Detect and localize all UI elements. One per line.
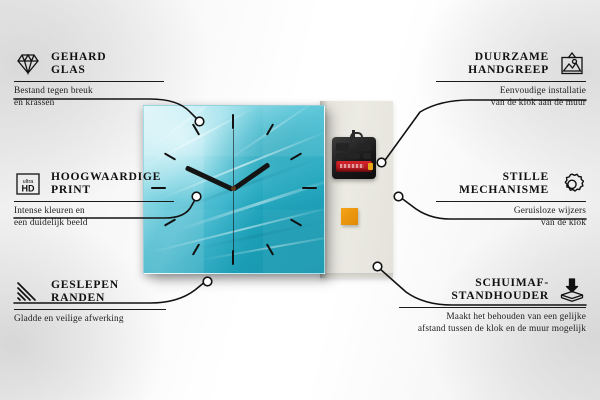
divider [399, 307, 586, 308]
diagonal-lines-icon [14, 279, 42, 305]
divider [436, 201, 586, 202]
feature-title: DUURZAME HANDGREEP [468, 51, 549, 76]
hanging-picture-icon [558, 51, 586, 77]
arrow-onto-pad-icon [558, 277, 586, 303]
infographic-canvas: GEHARD GLAS Bestand tegen breuk en krass… [0, 0, 600, 400]
clock-center-pin [231, 186, 236, 191]
feature-title: GESLEPEN RANDEN [51, 279, 119, 304]
tick-mark [302, 187, 317, 189]
tick-mark [232, 114, 234, 129]
feature-caption: Eenvoudige installatie van de klok aan d… [436, 85, 586, 110]
feature-duurzame-handgreep[interactable]: DUURZAME HANDGREEP Eenvoudige installati… [436, 51, 586, 110]
ultra-hd-icon: ultra HD [14, 171, 42, 197]
clock-mechanism [332, 137, 376, 179]
feature-schuimafstandhouder[interactable]: SCHUIMAF- STANDHOUDER Maakt het behouden… [399, 277, 586, 336]
foam-spacer-pad [341, 208, 358, 225]
diamond-icon [14, 51, 42, 77]
divider [436, 81, 586, 82]
svg-text:HD: HD [22, 184, 35, 194]
feature-stille-mechanisme[interactable]: STILLE MECHANISME Geruisloze wijzers van… [436, 171, 586, 230]
divider [14, 201, 174, 202]
feature-gehard-glas[interactable]: GEHARD GLAS Bestand tegen breuk en krass… [14, 51, 164, 110]
feature-title: STILLE MECHANISME [459, 171, 549, 196]
feature-caption: Intense kleuren en een duidelijk beeld [14, 205, 174, 230]
feature-caption: Gladde en veilige afwerking [14, 313, 166, 325]
center-vertical-line [233, 129, 234, 254]
mechanism-battery [336, 161, 372, 172]
feature-hoogwaardige-print[interactable]: ultra HD HOOGWAARDIGE PRINT Intense kleu… [14, 171, 174, 230]
divider [14, 81, 164, 82]
feature-title: HOOGWAARDIGE PRINT [51, 171, 161, 196]
feature-geslepen-randen[interactable]: GESLEPEN RANDEN Gladde en veilige afwerk… [14, 279, 166, 325]
feature-caption: Geruisloze wijzers van de klok [436, 205, 586, 230]
feature-caption: Maakt het behouden van een gelijke afsta… [399, 311, 586, 336]
feature-title: GEHARD GLAS [51, 51, 106, 76]
product-scene [143, 101, 393, 281]
divider [14, 309, 166, 310]
feature-title: SCHUIMAF- STANDHOUDER [451, 277, 549, 302]
feature-caption: Bestand tegen breuk en krassen [14, 85, 164, 110]
connector-node-mechanisme [394, 192, 403, 201]
gear-icon [558, 171, 586, 197]
